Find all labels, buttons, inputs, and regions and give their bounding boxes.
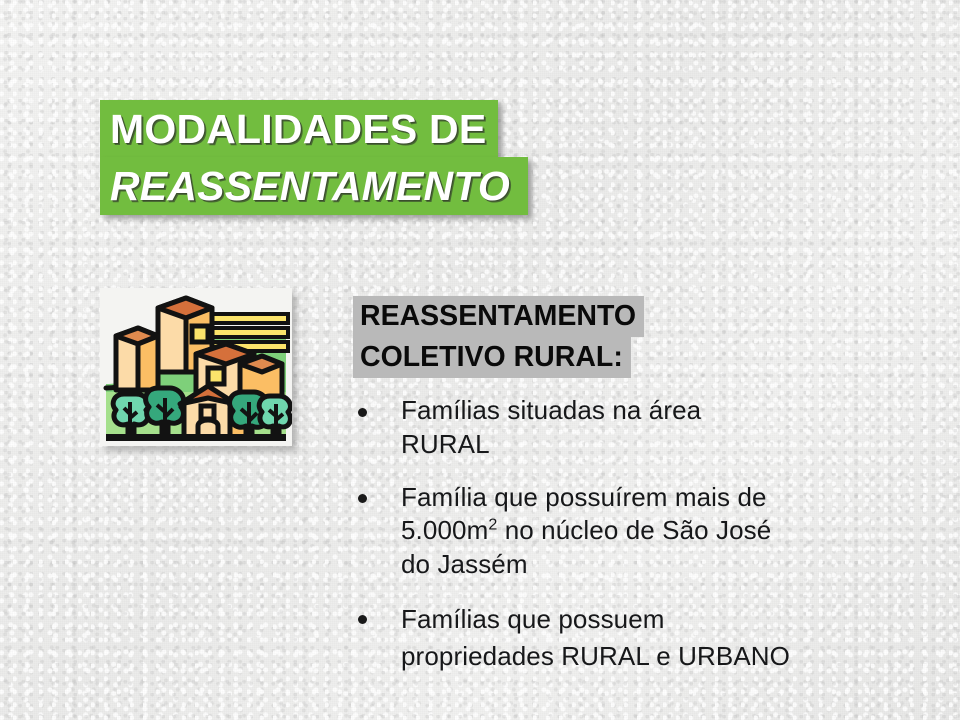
bullet-dot-icon xyxy=(358,408,367,417)
bullet-text-line-1: Famílias que possuem xyxy=(401,601,913,638)
village-icon xyxy=(100,288,292,446)
bullet-dot-icon xyxy=(358,615,367,624)
bullet-dot-icon xyxy=(358,494,367,503)
title-line-1: MODALIDADES DE xyxy=(100,100,498,158)
slide-title: MODALIDADES DE REASSENTAMENTO xyxy=(100,100,528,215)
section-heading: REASSENTAMENTO COLETIVO RURAL: xyxy=(353,296,644,378)
bullet-list: Famílias situadas na área RURAL Família … xyxy=(353,394,913,675)
bullet-text-line-2: 5.000m2 no núcleo de São José xyxy=(401,514,913,548)
list-item: Famílias situadas na área RURAL xyxy=(353,394,913,462)
bullet-text-line-3: do Jassém xyxy=(401,548,913,582)
bullet-text-line-2: propriedades RURAL e URBANO xyxy=(401,638,913,675)
bullet-area-suffix: no núcleo de São José xyxy=(497,515,771,545)
bullet-text-line-1: Família que possuírem mais de xyxy=(401,481,913,515)
section-heading-line-2: COLETIVO RURAL: xyxy=(353,337,631,378)
bullet-area-value: 5.000m xyxy=(401,515,488,545)
list-item: Família que possuírem mais de 5.000m2 no… xyxy=(353,481,913,582)
list-item: Famílias que possuem propriedades RURAL … xyxy=(353,601,913,675)
title-line-2: REASSENTAMENTO xyxy=(100,157,528,215)
content-column: REASSENTAMENTO COLETIVO RURAL: Famílias … xyxy=(353,296,913,691)
bullet-text-line-2: RURAL xyxy=(401,428,913,462)
section-heading-line-1: REASSENTAMENTO xyxy=(353,296,644,337)
rural-village-illustration xyxy=(100,288,292,446)
bullet-text-line-1: Famílias situadas na área xyxy=(401,394,913,428)
